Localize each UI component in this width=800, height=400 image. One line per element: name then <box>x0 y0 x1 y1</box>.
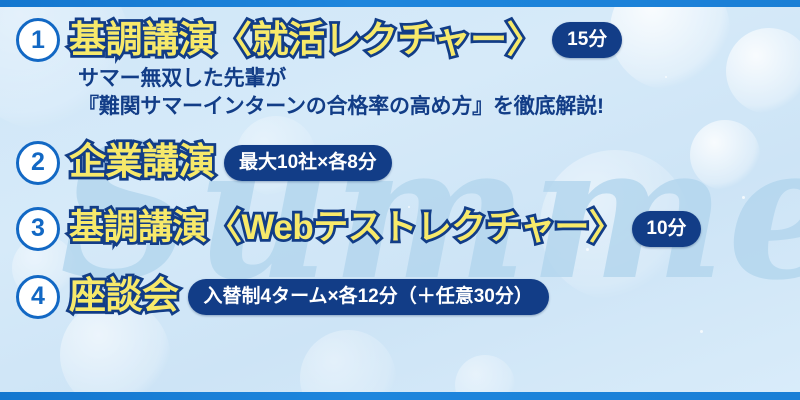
duration-badge: 10分 <box>632 211 700 247</box>
item-title: 基調講演〈Webテストレクチャー〉 <box>69 210 623 247</box>
program-item-header: 4 座談会 入替制4ターム×各12分（＋任意30分） <box>16 275 800 319</box>
item-title: 企業講演 <box>69 143 215 182</box>
item-title: 座談会 <box>69 277 179 316</box>
list-item: 4 座談会 入替制4ターム×各12分（＋任意30分） <box>0 275 800 319</box>
duration-badge: 15分 <box>552 22 622 58</box>
duration-badge: 最大10社×各8分 <box>224 145 392 181</box>
program-item-header: 3 基調講演〈Webテストレクチャー〉 10分 <box>16 207 800 251</box>
program-item-header: 2 企業講演 最大10社×各8分 <box>16 141 800 185</box>
list-item: 1 基調講演〈就活レクチャー〉 15分 サマー無双した先輩が 『難関サマーインタ… <box>0 18 800 121</box>
bokeh-circle <box>300 330 396 400</box>
item-number-badge: 3 <box>16 207 60 251</box>
duration-badge: 入替制4ターム×各12分（＋任意30分） <box>188 279 549 315</box>
list-item: 3 基調講演〈Webテストレクチャー〉 10分 <box>0 207 800 251</box>
item-number-badge: 4 <box>16 275 60 319</box>
item-number-badge: 1 <box>16 18 60 62</box>
item-title: 基調講演〈就活レクチャー〉 <box>69 21 543 60</box>
program-item-header: 1 基調講演〈就活レクチャー〉 15分 <box>16 18 800 62</box>
sparkle-speck <box>700 330 703 333</box>
item-number-badge: 2 <box>16 141 60 185</box>
list-item: 2 企業講演 最大10社×各8分 <box>0 141 800 185</box>
bottom-accent-bar <box>0 392 800 400</box>
item-subtitle-line-1: サマー無双した先輩が <box>78 65 800 93</box>
top-accent-bar <box>0 0 800 7</box>
item-subtitle-line-2: 『難関サマーインターンの合格率の高め方』を徹底解説! <box>78 93 800 121</box>
program-schedule-poster: Summer 1 基調講演〈就活レクチャー〉 15分 サマー無双した先輩が 『難… <box>0 0 800 400</box>
program-list: 1 基調講演〈就活レクチャー〉 15分 サマー無双した先輩が 『難関サマーインタ… <box>0 0 800 319</box>
